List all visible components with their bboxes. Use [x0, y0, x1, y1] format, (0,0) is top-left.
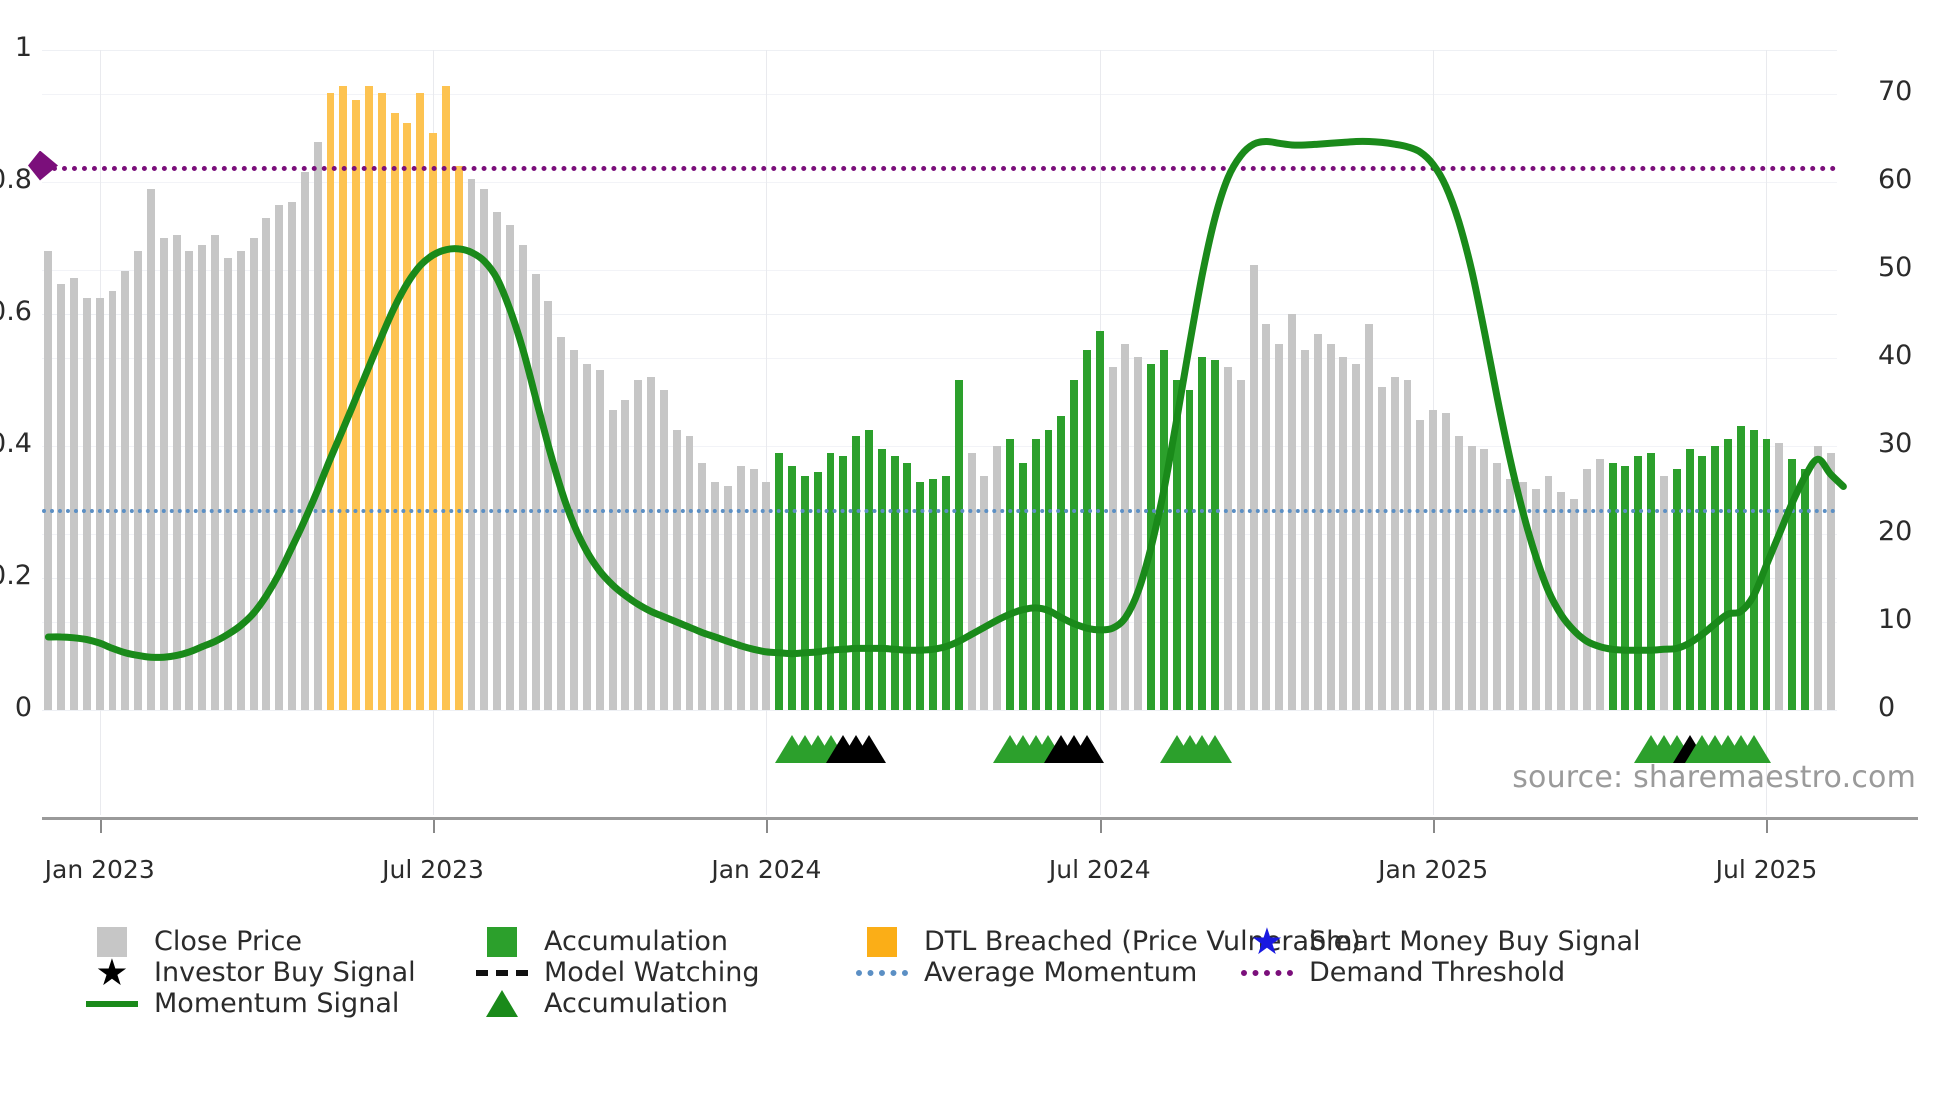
dotted-purple-line-icon [1241, 970, 1293, 976]
accumulation-triangle-marker [1737, 735, 1771, 763]
legend-item-momentum-signal[interactable]: Momentum Signal [86, 988, 399, 1019]
legend-label: Demand Threshold [1309, 957, 1565, 988]
legend-row-2: ★ Investor Buy Signal Model Watching Ave… [86, 957, 1916, 988]
legend-label: Average Momentum [924, 957, 1197, 988]
legend-item-investor-buy[interactable]: ★ Investor Buy Signal [86, 957, 416, 988]
plot-area [42, 50, 1837, 710]
y-axis-right-tick-label: 40 [1878, 340, 1912, 371]
legend-label: Model Watching [544, 957, 759, 988]
x-axis-tick-label: Jul 2024 [1049, 855, 1151, 884]
square-green-icon [476, 927, 528, 957]
legend-label: Accumulation [544, 988, 728, 1019]
legend-item-accumulation-triangle[interactable]: Accumulation [476, 988, 728, 1019]
y-axis-left-tick-label: 0 [0, 692, 32, 723]
x-axis-tick [1766, 820, 1768, 833]
legend-label: Close Price [154, 926, 302, 957]
momentum-signal-curve [42, 50, 1837, 710]
x-axis-tick-label: Jan 2024 [711, 855, 821, 884]
chart-root: 00.20.40.60.81 010203040506070 Jan 2023J… [0, 0, 1960, 1102]
legend-row-3: Momentum Signal Accumulation [86, 988, 1916, 1019]
y-axis-left-tick-label: 1 [0, 32, 32, 63]
y-axis-right-tick-label: 20 [1878, 516, 1912, 547]
y-axis-left-tick-label: 0.8 [0, 164, 32, 195]
y-axis-right-tick-label: 30 [1878, 428, 1912, 459]
legend-row-1: Close Price Accumulation DTL Breached (P… [86, 926, 1916, 957]
y-axis-right-tick-label: 10 [1878, 604, 1912, 635]
x-axis-tick [433, 820, 435, 833]
legend-label: Momentum Signal [154, 988, 399, 1019]
momentum-path [48, 141, 1843, 657]
y-axis-right-tick-label: 0 [1878, 692, 1895, 723]
triangle-green-icon [476, 990, 528, 1017]
x-axis-tick [1433, 820, 1435, 833]
x-axis-tick-label: Jul 2023 [382, 855, 484, 884]
dashed-black-line-icon [476, 970, 528, 976]
x-axis-tick [100, 820, 102, 833]
legend-item-smart-money-buy[interactable]: ★ Smart Money Buy Signal [1241, 926, 1641, 957]
star-blue-icon: ★ [1241, 923, 1293, 960]
y-axis-left-tick-label: 0.4 [0, 428, 32, 459]
y-axis-right-tick-label: 70 [1878, 76, 1912, 107]
y-axis-left-tick-label: 0.6 [0, 296, 32, 327]
legend-label: Smart Money Buy Signal [1309, 926, 1641, 957]
legend-item-model-watching[interactable]: Model Watching [476, 957, 759, 988]
x-axis-line [42, 817, 1918, 820]
y-axis-right-tick-label: 50 [1878, 252, 1912, 283]
x-axis-tick [766, 820, 768, 833]
legend-label: Accumulation [544, 926, 728, 957]
investor-buy-triangle-marker [1070, 735, 1104, 763]
dotted-blue-line-icon [856, 970, 908, 976]
y-axis-left-tick-label: 0.2 [0, 560, 32, 591]
x-axis-tick-label: Jan 2023 [45, 855, 155, 884]
legend-item-average-momentum[interactable]: Average Momentum [856, 957, 1197, 988]
legend-item-accumulation-bar[interactable]: Accumulation [476, 926, 728, 957]
x-axis-tick-label: Jan 2025 [1378, 855, 1488, 884]
legend-item-demand-threshold[interactable]: Demand Threshold [1241, 957, 1565, 988]
square-orange-icon [856, 927, 908, 957]
source-note: source: sharemaestro.com [1512, 760, 1916, 795]
accumulation-triangle-marker [1198, 735, 1232, 763]
investor-buy-triangle-marker [852, 735, 886, 763]
x-axis-tick [1100, 820, 1102, 833]
y-axis-right-tick-label: 60 [1878, 164, 1912, 195]
solid-green-line-icon [86, 1001, 138, 1007]
legend-label: Investor Buy Signal [154, 957, 416, 988]
chart-legend: Close Price Accumulation DTL Breached (P… [86, 926, 1916, 1019]
star-black-icon: ★ [86, 954, 138, 991]
gridline [42, 710, 1837, 711]
x-axis-tick-label: Jul 2025 [1716, 855, 1818, 884]
